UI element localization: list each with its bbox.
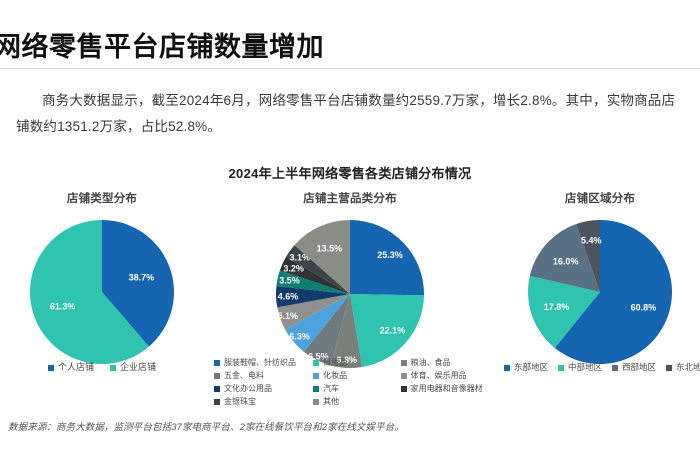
pie-slice-label: 13.5% — [317, 243, 343, 253]
legend-item-category-1-1[interactable]: 化妆品 — [313, 371, 399, 382]
legend-label: 服装鞋帽、针纺织品 — [224, 358, 296, 369]
legend-item-category-0-1[interactable]: 五金、电料 — [214, 371, 313, 382]
pie-slice-label: 61.3% — [50, 302, 76, 312]
chart-title: 2024年上半年网络零售各类店铺分布情况 — [0, 163, 700, 182]
legend-item-region-3[interactable]: 东北地区 — [666, 362, 700, 373]
legend-item-region-1[interactable]: 中部地区 — [558, 362, 602, 373]
legend-swatch-icon — [504, 365, 510, 371]
legend-label: 中部地区 — [568, 362, 602, 373]
pie-slice-label: 5.4% — [581, 236, 602, 246]
legend-item-region-0[interactable]: 东部地区 — [504, 362, 548, 373]
legend-swatch-icon — [401, 386, 407, 392]
legend-swatch-icon — [110, 365, 116, 371]
legend-label: 东部地区 — [514, 362, 548, 373]
legend-label: 企业店铺 — [120, 362, 156, 373]
page-title: 网络零售平台店铺数量增加 — [0, 26, 324, 68]
source-note: 数据来源：商务大数据，监测平台包括37家电商平台、2家在线餐饮平台和2家在线文娱… — [8, 419, 404, 433]
legend-label: 文化办公用品 — [224, 384, 272, 395]
legend-item-store-type-1[interactable]: 企业店铺 — [110, 362, 156, 373]
pie-slice-label: 3.5% — [279, 276, 300, 286]
legend-label: 西部地区 — [622, 362, 656, 373]
legend-label: 粮油、食品 — [411, 358, 451, 369]
header-divider — [0, 68, 700, 69]
pie-slice-label: 17.8% — [544, 302, 570, 312]
legend-swatch-icon — [214, 373, 220, 379]
pie-slice-label: 16.0% — [553, 256, 579, 266]
legend-item-category-2-0[interactable]: 粮油、食品 — [401, 358, 492, 369]
pie-svg-store-type: 38.7%61.3% — [22, 212, 182, 372]
legend-item-region-2[interactable]: 西部地区 — [612, 362, 656, 373]
legend-swatch-icon — [313, 360, 319, 366]
legend-label: 汽车 — [323, 384, 339, 395]
legend-store-type: 个人店铺企业店铺 — [4, 362, 200, 373]
legend-swatch-icon — [48, 365, 54, 371]
pie-slice-label: 60.8% — [631, 302, 657, 312]
page-header: 网络零售平台店铺数量增加 — [0, 26, 700, 68]
legend-swatch-icon — [313, 399, 319, 405]
intro-paragraph: 商务大数据显示，截至2024年6月，网络零售平台店铺数量约2559.7万家，增长… — [16, 88, 688, 140]
legend-item-category-2-2[interactable]: 家用电器和音像器材 — [401, 384, 492, 395]
legend-item-category-0-3[interactable]: 金银珠宝 — [214, 397, 313, 408]
legend-item-category-0-0[interactable]: 服装鞋帽、针纺织品 — [214, 358, 313, 369]
pie-svg-region: 60.8%17.8%16.0%5.4% — [520, 212, 680, 372]
legend-swatch-icon — [214, 386, 220, 392]
pie-chart-store-type: 38.7%61.3% — [4, 212, 200, 372]
panel-title-category: 店铺主营品类分布 — [208, 190, 492, 206]
legend-swatch-icon — [313, 373, 319, 379]
legend-swatch-icon — [558, 365, 564, 371]
pie-slice-label: 6.3% — [289, 332, 310, 342]
legend-swatch-icon — [666, 365, 672, 371]
legend-label: 金银珠宝 — [224, 397, 256, 408]
legend-label: 五金、电料 — [224, 371, 264, 382]
legend-label: 其他 — [323, 397, 339, 408]
pie-chart-region: 60.8%17.8%16.0%5.4% — [500, 212, 700, 372]
pie-chart-category: 25.3%22.1%6.8%6.5%6.3%5.1%4.6%3.5%3.2%3.… — [208, 212, 492, 376]
pie-slice-label: 38.7% — [129, 272, 155, 282]
legend-category: 服装鞋帽、针纺织品五金、电料文化办公用品金银珠宝日用品化妆品汽车其他粮油、食品体… — [208, 358, 492, 408]
legend-label: 日用品 — [323, 358, 347, 369]
legend-column-3: 粮油、食品体育、娱乐用品家用电器和音像器材 — [399, 358, 492, 408]
panel-title-store-type: 店铺类型分布 — [4, 190, 200, 206]
legend-swatch-icon — [401, 373, 407, 379]
legend-label: 东北地区 — [676, 362, 700, 373]
chart-panel-store-type: 店铺类型分布 38.7%61.3% 个人店铺企业店铺 — [4, 190, 200, 372]
legend-swatch-icon — [214, 360, 220, 366]
pie-svg-category: 25.3%22.1%6.8%6.5%6.3%5.1%4.6%3.5%3.2%3.… — [268, 212, 432, 376]
legend-swatch-icon — [214, 399, 220, 405]
legend-item-category-1-2[interactable]: 汽车 — [313, 384, 399, 395]
legend-item-category-0-2[interactable]: 文化办公用品 — [214, 384, 313, 395]
slide-page: 网络零售平台店铺数量增加 商务大数据显示，截至2024年6月，网络零售平台店铺数… — [0, 0, 700, 470]
charts-container: 店铺类型分布 38.7%61.3% 个人店铺企业店铺 店铺主营品类分布 25.3… — [0, 190, 700, 410]
pie-slice-label: 4.6% — [278, 291, 299, 301]
panel-title-region: 店铺区域分布 — [500, 190, 700, 206]
legend-label: 化妆品 — [323, 371, 347, 382]
legend-label: 家用电器和音像器材 — [411, 384, 483, 395]
legend-item-category-2-1[interactable]: 体育、娱乐用品 — [401, 371, 492, 382]
pie-slice-label: 5.1% — [278, 311, 299, 321]
legend-swatch-icon — [313, 386, 319, 392]
legend-swatch-icon — [401, 360, 407, 366]
legend-column-2: 日用品化妆品汽车其他 — [313, 358, 399, 408]
legend-region: 东部地区中部地区西部地区东北地区 — [494, 362, 700, 373]
legend-item-store-type-0[interactable]: 个人店铺 — [48, 362, 94, 373]
legend-item-category-1-3[interactable]: 其他 — [313, 397, 399, 408]
legend-swatch-icon — [612, 365, 618, 371]
legend-column-1: 服装鞋帽、针纺织品五金、电料文化办公用品金银珠宝 — [208, 358, 313, 408]
pie-slice-label: 22.1% — [380, 326, 406, 336]
legend-item-category-1-0[interactable]: 日用品 — [313, 358, 399, 369]
pie-slice-label: 25.3% — [377, 250, 403, 260]
chart-panel-region: 店铺区域分布 60.8%17.8%16.0%5.4% 东部地区中部地区西部地区东… — [500, 190, 700, 372]
legend-label: 个人店铺 — [58, 362, 94, 373]
legend-label: 体育、娱乐用品 — [411, 371, 467, 382]
chart-panel-category: 店铺主营品类分布 25.3%22.1%6.8%6.5%6.3%5.1%4.6%3… — [208, 190, 492, 376]
